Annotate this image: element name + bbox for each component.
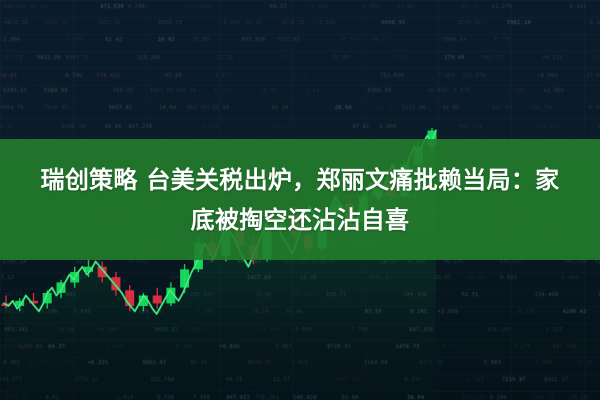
headline-band: 瑞创策略 台美关税出炉，郑丽文痛批赖当局：家 底被掏空还沾沾自喜 [0, 139, 600, 260]
headline-text-block: 瑞创策略 台美关税出炉，郑丽文痛批赖当局：家 底被掏空还沾沾自喜 [10, 160, 590, 240]
headline-line-2: 底被掏空还沾沾自喜 [10, 200, 590, 240]
page-title: 瑞创策略 台美关税出炉，郑丽文痛批赖当局：家 底被掏空还沾沾自喜 [10, 160, 590, 240]
image-canvas: 848,92985.34473,5390.248+2.84%69.27-1.60… [0, 0, 600, 400]
headline-line-1: 瑞创策略 台美关税出炉，郑丽文痛批赖当局：家 [10, 160, 590, 200]
